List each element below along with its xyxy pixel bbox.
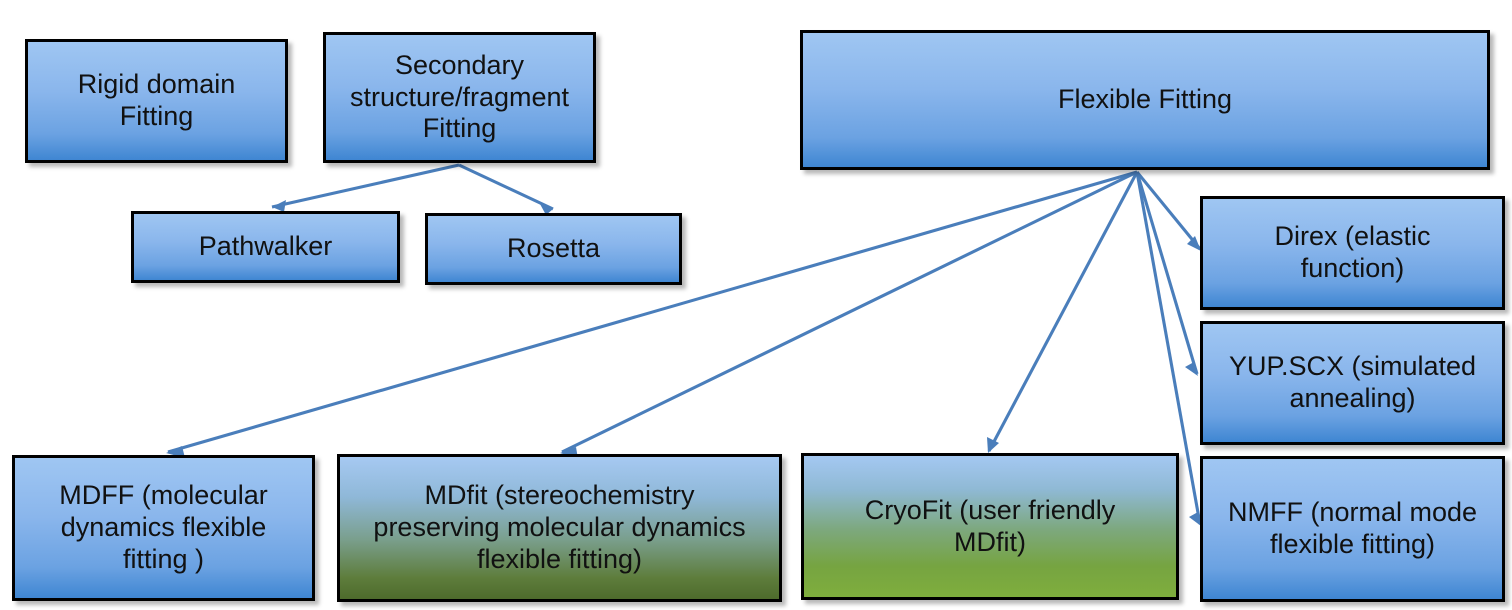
edge-secondary-to-pathwalker xyxy=(272,165,459,212)
node-rigid-domain-fitting[interactable]: Rigid domainFitting xyxy=(25,39,288,163)
edge-flexible-to-direx xyxy=(1137,172,1201,251)
node-mdff[interactable]: MDFF (moleculardynamics flexiblefitting … xyxy=(12,455,315,601)
edge-flexible-to-cryofit xyxy=(987,172,1137,453)
node-secondary-structure-line2: structure/fragment xyxy=(334,82,585,114)
node-rosetta-label: Rosetta xyxy=(436,233,671,265)
node-direx[interactable]: Direx (elasticfunction) xyxy=(1200,196,1505,310)
node-mdff-line3: fitting ) xyxy=(23,544,304,576)
node-nmff-line1: NMFF (normal mode xyxy=(1211,497,1494,529)
edge-flexible-to-yupscx xyxy=(1137,172,1198,376)
node-flexible-fitting[interactable]: Flexible Fitting xyxy=(800,30,1490,170)
node-secondary-structure-fitting[interactable]: Secondarystructure/fragmentFitting xyxy=(323,32,596,163)
node-secondary-structure-line1: Secondary xyxy=(334,50,585,82)
node-rosetta[interactable]: Rosetta xyxy=(425,213,682,285)
node-mdff-line1: MDFF (molecular xyxy=(23,480,304,512)
node-cryofit[interactable]: CryoFit (user friendlyMDfit) xyxy=(801,453,1179,600)
node-mdfit-line3: flexible fitting) xyxy=(348,544,771,576)
node-secondary-structure-line3: Fitting xyxy=(334,113,585,145)
node-direx-line1: Direx (elastic xyxy=(1211,221,1494,253)
node-yupscx-line2: annealing) xyxy=(1211,383,1494,415)
node-nmff-line2: flexible fitting) xyxy=(1211,529,1494,561)
node-yupscx[interactable]: YUP.SCX (simulatedannealing) xyxy=(1200,321,1505,445)
node-mdff-line2: dynamics flexible xyxy=(23,512,304,544)
node-mdfit[interactable]: MDfit (stereochemistrypreserving molecul… xyxy=(337,454,782,602)
node-cryofit-line1: CryoFit (user friendly xyxy=(812,495,1168,527)
node-rigid-domain-fitting-line1: Rigid domain xyxy=(36,69,277,101)
node-pathwalker[interactable]: Pathwalker xyxy=(131,211,400,283)
node-yupscx-line1: YUP.SCX (simulated xyxy=(1211,351,1494,383)
node-mdfit-line2: preserving molecular dynamics xyxy=(348,512,771,544)
diagram-canvas: Rigid domainFitting Secondarystructure/f… xyxy=(0,0,1512,610)
edge-secondary-to-rosetta xyxy=(459,165,553,215)
node-pathwalker-label: Pathwalker xyxy=(142,231,389,263)
node-rigid-domain-fitting-line2: Fitting xyxy=(36,101,277,133)
node-nmff[interactable]: NMFF (normal modeflexible fitting) xyxy=(1200,456,1505,602)
node-direx-line2: function) xyxy=(1211,253,1494,285)
node-cryofit-line2: MDfit) xyxy=(812,527,1168,559)
node-mdfit-line1: MDfit (stereochemistry xyxy=(348,480,771,512)
node-flexible-fitting-label: Flexible Fitting xyxy=(811,84,1479,116)
